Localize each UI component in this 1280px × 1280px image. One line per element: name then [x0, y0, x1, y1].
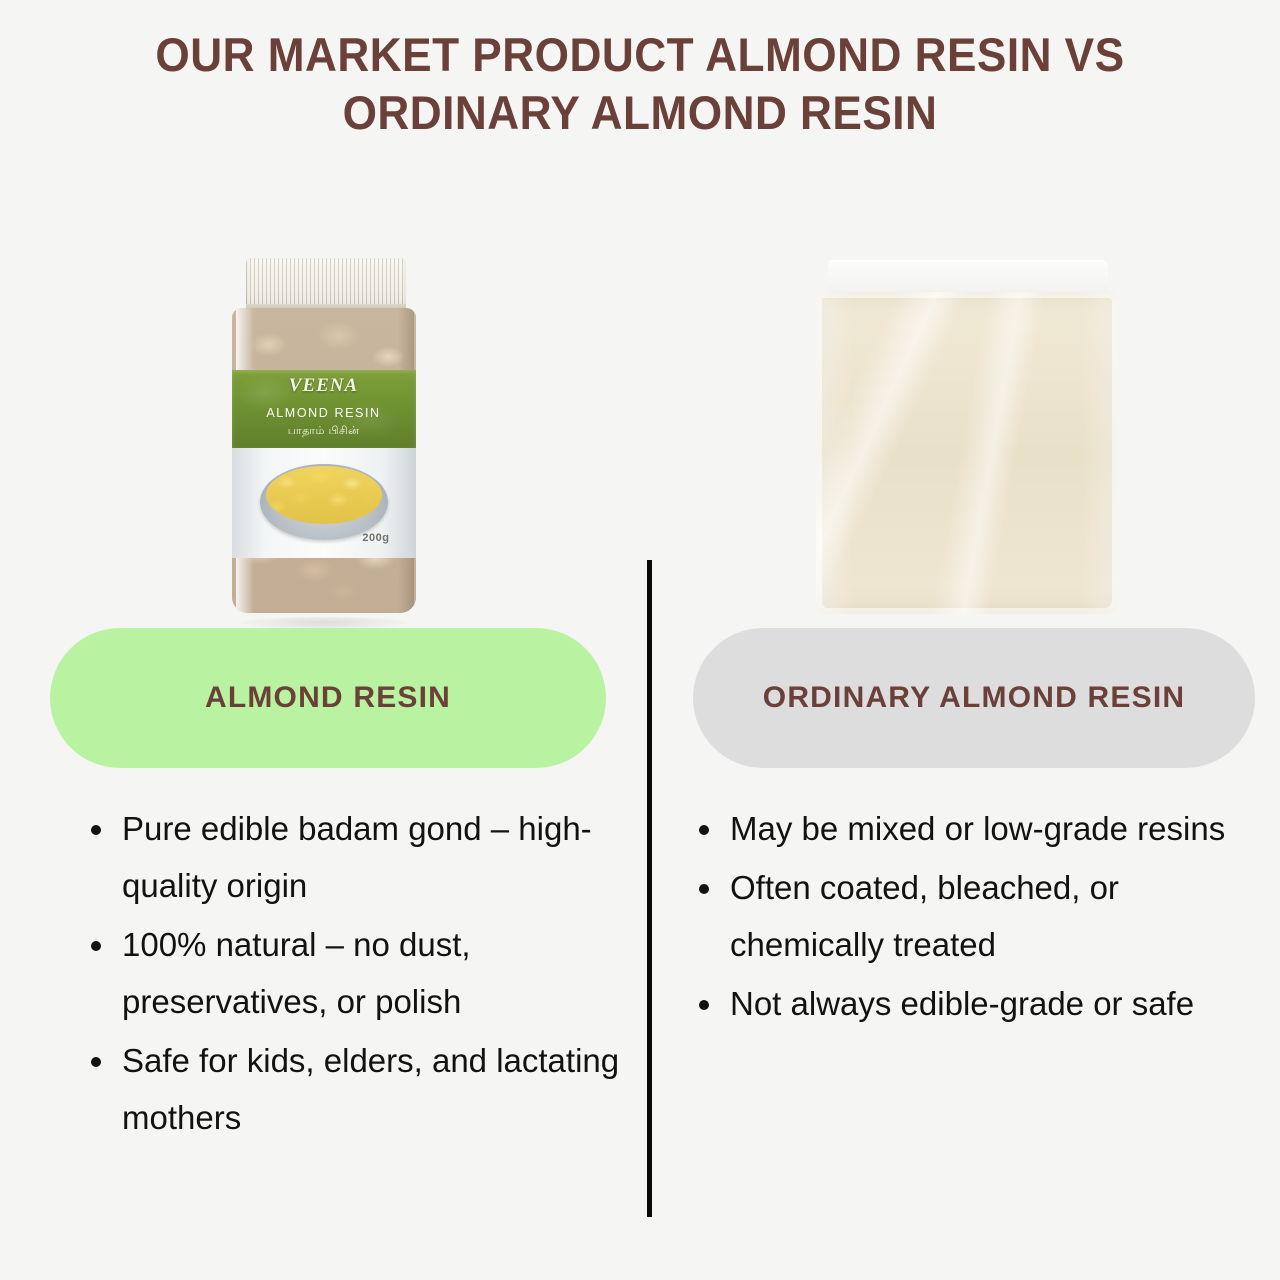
badge-almond-resin: ALMOND RESIN — [50, 628, 606, 768]
net-weight-text: 200g — [362, 532, 389, 544]
left-benefits-list: Pure edible badam gond – high-quality or… — [82, 800, 627, 1148]
right-product-image — [652, 250, 1280, 630]
badge-almond-resin-label: ALMOND RESIN — [205, 674, 451, 722]
list-item: 100% natural – no dust, preservatives, o… — [82, 916, 627, 1030]
right-drawbacks-list: May be mixed or low-grade resins Often c… — [690, 800, 1230, 1034]
list-item: Not always edible-grade or safe — [690, 975, 1230, 1032]
jar-lid-icon — [246, 258, 406, 310]
bag-plastic-edge — [816, 292, 1118, 614]
list-item: Safe for kids, elders, and lactating mot… — [82, 1032, 627, 1146]
list-item: Often coated, bleached, or chemically tr… — [690, 859, 1230, 973]
left-comparison-column: VEENA ALMOND RESIN பாதாம் பிசின் 200g AL… — [0, 0, 647, 1280]
jar-body: VEENA ALMOND RESIN பாதாம் பிசின் 200g — [232, 308, 416, 613]
badge-ordinary-almond-resin-label: ORDINARY ALMOND RESIN — [763, 674, 1185, 722]
left-product-image: VEENA ALMOND RESIN பாதாம் பிசின் 200g — [0, 250, 647, 630]
jar-white-label: 200g — [232, 448, 416, 558]
jar-label-title: ALMOND RESIN — [232, 406, 416, 420]
badge-ordinary-almond-resin: ORDINARY ALMOND RESIN — [693, 628, 1255, 768]
brand-logo: VEENA — [232, 375, 416, 397]
bag-body — [816, 292, 1118, 614]
list-item: Pure edible badam gond – high-quality or… — [82, 800, 627, 914]
almond-resin-jar: VEENA ALMOND RESIN பாதாம் பிசின் 200g — [224, 258, 424, 628]
jar-label-subtitle: பாதாம் பிசின் — [232, 425, 416, 439]
resin-bowl-image — [260, 464, 388, 540]
ordinary-resin-bag — [806, 260, 1126, 620]
list-item: May be mixed or low-grade resins — [690, 800, 1230, 857]
right-comparison-column: ORDINARY ALMOND RESIN May be mixed or lo… — [652, 0, 1280, 1280]
jar-green-label: VEENA ALMOND RESIN பாதாம் பிசின் — [232, 370, 416, 448]
bowl-resin-crystals — [266, 466, 382, 524]
